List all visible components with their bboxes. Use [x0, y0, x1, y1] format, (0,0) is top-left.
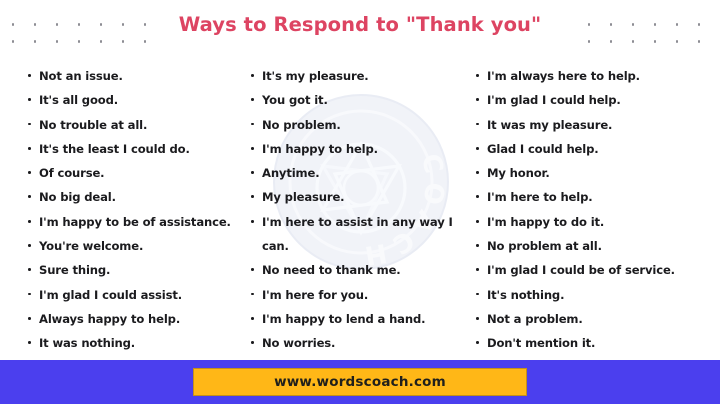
website-url-label: www.wordscoach.com [274, 374, 446, 390]
list-item-label: I'm happy to lend a hand. [262, 312, 425, 326]
decorative-dot [654, 23, 656, 25]
bullet-icon [28, 74, 31, 77]
bullet-icon [476, 341, 479, 344]
list-item-label: Sure thing. [39, 263, 110, 277]
decorative-dot [698, 23, 700, 25]
list-item[interactable]: I'm glad I could help. [475, 88, 703, 112]
list-item[interactable]: No big deal. [27, 185, 242, 209]
decorative-dot [34, 40, 36, 42]
list-item[interactable]: My honor. [475, 161, 703, 185]
decorative-dot [632, 23, 634, 25]
list-item-label: I'm happy to be of assistance. [39, 215, 231, 229]
list-item[interactable]: I'm glad I could assist. [27, 283, 242, 307]
bullet-icon [28, 341, 31, 344]
list-item[interactable]: I'm happy to be of assistance. [27, 210, 242, 234]
list-item-label: I'm glad I could assist. [39, 288, 182, 302]
list-item-label: No trouble at all. [39, 118, 147, 132]
list-item-label: It's my pleasure. [262, 69, 369, 83]
bullet-icon [28, 123, 31, 126]
bullet-icon [476, 317, 479, 320]
bullet-icon [251, 220, 254, 223]
bullet-icon [476, 268, 479, 271]
list-item[interactable]: I'm here to assist in any way I can. [250, 210, 468, 259]
bullet-icon [476, 195, 479, 198]
list-item-label: No problem at all. [487, 239, 602, 253]
bullet-icon [476, 171, 479, 174]
phrase-list-1: Not an issue. It's all good. No trouble … [27, 64, 242, 356]
list-item-label: It's the least I could do. [39, 142, 190, 156]
decorative-dot [100, 40, 102, 42]
decorative-dot [78, 40, 80, 42]
bullet-icon [28, 147, 31, 150]
bullet-icon [251, 147, 254, 150]
list-item-label: Glad I could help. [487, 142, 599, 156]
list-item-label: No big deal. [39, 190, 116, 204]
phrase-list-2: It's my pleasure. You got it. No problem… [250, 64, 468, 356]
website-url-button[interactable]: www.wordscoach.com [193, 368, 527, 396]
list-item-label: I'm here for you. [262, 288, 368, 302]
bullet-icon [251, 195, 254, 198]
list-item-label: You got it. [262, 93, 328, 107]
list-item[interactable]: No need to thank me. [250, 258, 468, 282]
phrase-column-2: It's my pleasure. You got it. No problem… [250, 64, 468, 356]
list-item[interactable]: I'm glad I could be of service. [475, 258, 703, 282]
list-item[interactable]: I'm here for you. [250, 283, 468, 307]
list-item-label: Always happy to help. [39, 312, 180, 326]
bullet-icon [251, 293, 254, 296]
bullet-icon [28, 244, 31, 247]
bullet-icon [251, 341, 254, 344]
bullet-icon [251, 98, 254, 101]
list-item-label: Not an issue. [39, 69, 123, 83]
bullet-icon [251, 123, 254, 126]
list-item-label: I'm always here to help. [487, 69, 640, 83]
bullet-icon [476, 220, 479, 223]
bullet-icon [28, 195, 31, 198]
phrase-list-3: I'm always here to help. I'm glad I coul… [475, 64, 703, 356]
list-item[interactable]: I'm happy to lend a hand. [250, 307, 468, 331]
decorative-dot [588, 23, 590, 25]
list-item-label: I'm here to assist in any way I can. [262, 215, 453, 253]
list-item[interactable]: Don't mention it. [475, 331, 703, 355]
list-item-label: Of course. [39, 166, 104, 180]
list-item-label: My pleasure. [262, 190, 344, 204]
list-item-label: Anytime. [262, 166, 319, 180]
list-item[interactable]: I'm always here to help. [475, 64, 703, 88]
list-item-label: My honor. [487, 166, 550, 180]
list-item[interactable]: I'm here to help. [475, 185, 703, 209]
list-item-label: I'm glad I could help. [487, 93, 621, 107]
phrase-column-1: Not an issue. It's all good. No trouble … [27, 64, 242, 356]
bullet-icon [28, 220, 31, 223]
list-item-label: It was nothing. [39, 336, 135, 350]
list-item[interactable]: It's the least I could do. [27, 137, 242, 161]
bullet-icon [476, 74, 479, 77]
decorative-dot [144, 40, 146, 42]
list-item[interactable]: It's all good. [27, 88, 242, 112]
list-item-label: Don't mention it. [487, 336, 595, 350]
list-item[interactable]: No worries. [250, 331, 468, 355]
list-item-label: Not a problem. [487, 312, 583, 326]
bullet-icon [476, 123, 479, 126]
list-item-label: I'm here to help. [487, 190, 593, 204]
list-item[interactable]: No problem at all. [475, 234, 703, 258]
list-item[interactable]: I'm happy to do it. [475, 210, 703, 234]
list-item-label: No problem. [262, 118, 341, 132]
decorative-dot [654, 40, 656, 42]
decorative-dot [676, 23, 678, 25]
list-item[interactable]: My pleasure. [250, 185, 468, 209]
poster: Ways to Respond to "Thank you" COACH Not… [0, 0, 720, 404]
decorative-dot [122, 40, 124, 42]
header: Ways to Respond to "Thank you" [0, 0, 720, 58]
decorative-dot [588, 40, 590, 42]
bullet-icon [476, 293, 479, 296]
list-item-label: I'm happy to do it. [487, 215, 604, 229]
list-item[interactable]: Not an issue. [27, 64, 242, 88]
decorative-dot-grid-right [578, 16, 720, 50]
list-item[interactable]: It was nothing. [27, 331, 242, 355]
list-item[interactable]: No trouble at all. [27, 113, 242, 137]
decorative-dot [12, 40, 14, 42]
bullet-icon [251, 317, 254, 320]
list-item[interactable]: Always happy to help. [27, 307, 242, 331]
list-item-label: No worries. [262, 336, 335, 350]
bullet-icon [476, 244, 479, 247]
decorative-dot [676, 40, 678, 42]
list-item-label: You're welcome. [39, 239, 143, 253]
list-item-label: It was my pleasure. [487, 118, 612, 132]
footer-bar: www.wordscoach.com [0, 360, 720, 404]
list-item[interactable]: No problem. [250, 113, 468, 137]
list-item[interactable]: Anytime. [250, 161, 468, 185]
list-item-label: I'm glad I could be of service. [487, 263, 675, 277]
decorative-dot [610, 40, 612, 42]
bullet-icon [28, 293, 31, 296]
bullet-icon [251, 171, 254, 174]
bullet-icon [251, 74, 254, 77]
decorative-dot [610, 23, 612, 25]
decorative-dot [698, 40, 700, 42]
bullet-icon [28, 98, 31, 101]
list-item[interactable]: It was my pleasure. [475, 113, 703, 137]
list-item[interactable]: Sure thing. [27, 258, 242, 282]
list-item-label: I'm happy to help. [262, 142, 378, 156]
bullet-icon [476, 147, 479, 150]
decorative-dot [56, 40, 58, 42]
bullet-icon [28, 171, 31, 174]
list-item[interactable]: You got it. [250, 88, 468, 112]
list-item-label: It's nothing. [487, 288, 564, 302]
phrase-columns: Not an issue. It's all good. No trouble … [0, 64, 720, 350]
list-item[interactable]: You're welcome. [27, 234, 242, 258]
list-item[interactable]: It's my pleasure. [250, 64, 468, 88]
decorative-dot [632, 40, 634, 42]
list-item-label: It's all good. [39, 93, 118, 107]
list-item[interactable]: Not a problem. [475, 307, 703, 331]
bullet-icon [251, 268, 254, 271]
list-item-label: No need to thank me. [262, 263, 401, 277]
phrase-column-3: I'm always here to help. I'm glad I coul… [475, 64, 703, 356]
list-item[interactable]: I'm happy to help. [250, 137, 468, 161]
list-item[interactable]: Glad I could help. [475, 137, 703, 161]
bullet-icon [476, 98, 479, 101]
bullet-icon [28, 268, 31, 271]
list-item[interactable]: Of course. [27, 161, 242, 185]
bullet-icon [28, 317, 31, 320]
list-item[interactable]: It's nothing. [475, 283, 703, 307]
